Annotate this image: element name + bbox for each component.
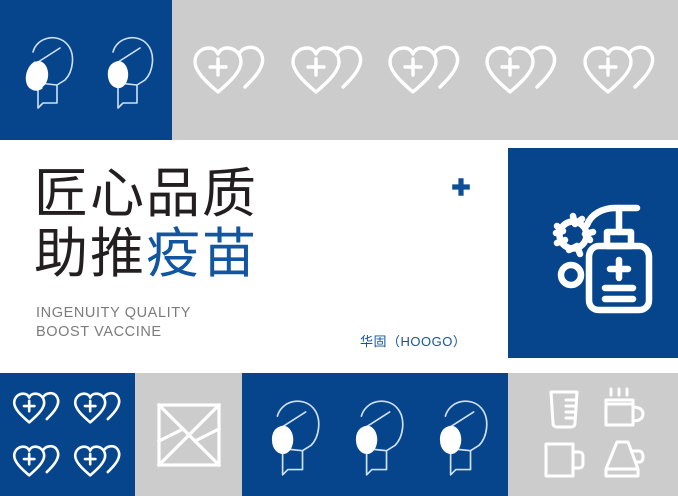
sanitizer-bottle-icon <box>527 178 659 328</box>
headline-line-2: 助推疫苗 <box>34 224 258 284</box>
page-title: 匠心品质 助推疫苗 <box>34 164 258 284</box>
beaker-icon <box>544 387 584 431</box>
subtitle-english: INGENUITY QUALITY BOOST VACCINE <box>36 304 191 342</box>
top-band <box>0 0 678 140</box>
double-heart-plus-icon <box>382 42 468 98</box>
subtitle-line-1: INGENUITY QUALITY <box>36 304 191 323</box>
top-masked-head-row <box>0 0 172 140</box>
double-heart-plus-icon <box>9 389 65 427</box>
masked-head-icon <box>13 28 79 112</box>
bottom-heart-panel <box>0 373 135 496</box>
vessel-grid <box>508 373 678 496</box>
plus-icon <box>450 176 472 198</box>
double-heart-plus-icon <box>577 42 663 98</box>
brand-label: 华固（HOOGO） <box>360 331 466 350</box>
masked-head-icon <box>424 391 494 479</box>
vessel-panel <box>508 373 678 496</box>
subtitle-line-2: BOOST VACCINE <box>36 323 191 342</box>
mug-icon <box>541 439 587 481</box>
headline-line-2-dark: 助推 <box>34 224 146 284</box>
double-heart-plus-icon <box>9 442 65 480</box>
top-heart-row <box>172 0 678 140</box>
middle-band: 匠心品质 助推疫苗 INGENUITY QUALITY BOOST VACCIN… <box>0 148 678 358</box>
sanitizer-panel-inner <box>508 148 678 358</box>
masked-head-icon <box>340 391 410 479</box>
double-heart-plus-icon <box>70 442 126 480</box>
kettle-icon <box>600 438 646 482</box>
x-box-wrap <box>135 373 242 496</box>
steaming-cup-icon <box>600 387 646 431</box>
masked-head-icon <box>256 391 326 479</box>
bottom-masked-head-row <box>242 373 508 496</box>
double-heart-plus-icon <box>70 389 126 427</box>
double-heart-plus-icon <box>285 42 371 98</box>
bottom-heart-grid <box>0 373 135 496</box>
poster-canvas: 匠心品质 助推疫苗 INGENUITY QUALITY BOOST VACCIN… <box>0 0 678 496</box>
headline-line-1: 匠心品质 <box>34 164 258 224</box>
masked-head-icon <box>93 28 159 112</box>
sanitizer-panel <box>508 148 678 358</box>
x-box-panel <box>135 373 242 496</box>
headline-panel: 匠心品质 助推疫苗 INGENUITY QUALITY BOOST VACCIN… <box>0 148 501 358</box>
bottom-band <box>0 373 678 496</box>
double-heart-plus-icon <box>187 42 273 98</box>
double-heart-plus-icon <box>479 42 565 98</box>
bottom-masked-head-panel <box>242 373 508 496</box>
x-box-icon <box>155 401 223 469</box>
headline-line-2-blue: 疫苗 <box>146 224 258 284</box>
